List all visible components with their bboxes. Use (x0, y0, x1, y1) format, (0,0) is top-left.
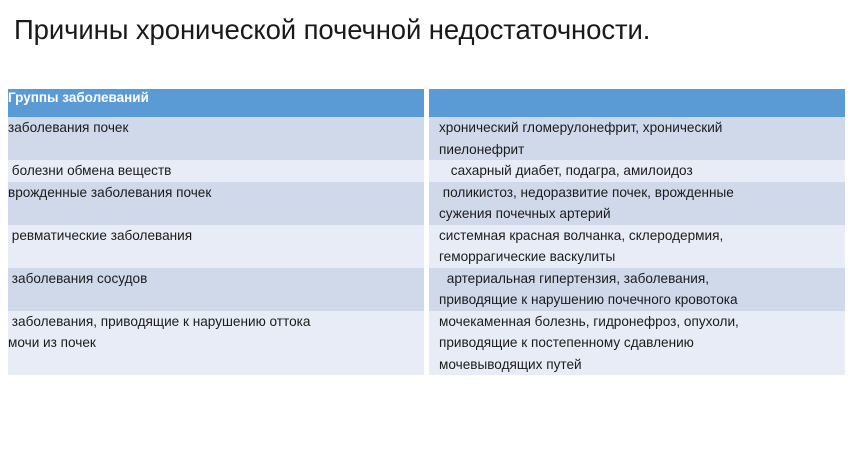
cell-line: приводящие к постепенному сдавлению (439, 332, 845, 354)
cell-line: приводящие к нарушению почечного кровото… (439, 289, 845, 311)
cell-line: пиелонефрит (439, 139, 845, 161)
cell-disease-group: заболевания почек (8, 117, 424, 160)
column-header-disease-groups: Группы заболеваний (8, 89, 424, 117)
cell-line: поликистоз, недоразвитие почек, врожденн… (439, 182, 845, 204)
cell-line: артериальная гипертензия, заболевания, (439, 268, 845, 290)
cell-line: болезни обмена веществ (8, 160, 424, 182)
table-row: болезни обмена веществ сахарный диабет, … (8, 160, 845, 182)
page-title: Причины хронической почечной недостаточн… (14, 12, 834, 48)
causes-table: Группы заболеваний заболевания почек хро… (8, 89, 845, 375)
cell-line: системная красная волчанка, склеродермия… (439, 225, 845, 247)
cell-line: заболевания почек (8, 117, 424, 139)
cell-line: мочи из почек (8, 332, 424, 354)
cell-disease-group: ревматические заболевания (8, 225, 424, 268)
cell-causes: мочекаменная болезнь, гидронефроз, опухо… (424, 311, 845, 376)
cell-causes: системная красная волчанка, склеродермия… (424, 225, 845, 268)
slide: Причины хронической почечной недостаточн… (0, 0, 850, 449)
cell-disease-group: заболевания сосудов (8, 268, 424, 311)
cell-line: мочекаменная болезнь, гидронефроз, опухо… (439, 311, 845, 333)
cell-causes: артериальная гипертензия, заболевания, п… (424, 268, 845, 311)
causes-table-container: Группы заболеваний заболевания почек хро… (8, 89, 845, 375)
cell-line: заболевания сосудов (8, 268, 424, 290)
table-body: заболевания почек хронический гломерулон… (8, 117, 845, 375)
cell-causes: хронический гломерулонефрит, хронический… (424, 117, 845, 160)
table-row: ревматические заболевания системная крас… (8, 225, 845, 268)
cell-line: геморрагические васкулиты (439, 246, 845, 268)
cell-line: ревматические заболевания (8, 225, 424, 247)
cell-line: мочевыводящих путей (439, 354, 845, 376)
cell-line: сужения почечных артерий (439, 203, 845, 225)
table-header-row: Группы заболеваний (8, 89, 845, 117)
cell-causes: поликистоз, недоразвитие почек, врожденн… (424, 182, 845, 225)
cell-disease-group: болезни обмена веществ (8, 160, 424, 182)
table-row: заболевания, приводящие к нарушению отто… (8, 311, 845, 376)
cell-line: хронический гломерулонефрит, хронический (439, 117, 845, 139)
cell-disease-group: врожденные заболевания почек (8, 182, 424, 225)
cell-disease-group: заболевания, приводящие к нарушению отто… (8, 311, 424, 376)
table-row: заболевания сосудов артериальная гиперте… (8, 268, 845, 311)
cell-causes: сахарный диабет, подагра, амилоидоз (424, 160, 845, 182)
cell-line: сахарный диабет, подагра, амилоидоз (439, 160, 845, 182)
table-row: заболевания почек хронический гломерулон… (8, 117, 845, 160)
table-row: врожденные заболевания почек поликистоз,… (8, 182, 845, 225)
column-header-causes (424, 89, 845, 117)
cell-line: заболевания, приводящие к нарушению отто… (8, 311, 424, 333)
cell-line: врожденные заболевания почек (8, 182, 424, 204)
table-header: Группы заболеваний (8, 89, 845, 117)
